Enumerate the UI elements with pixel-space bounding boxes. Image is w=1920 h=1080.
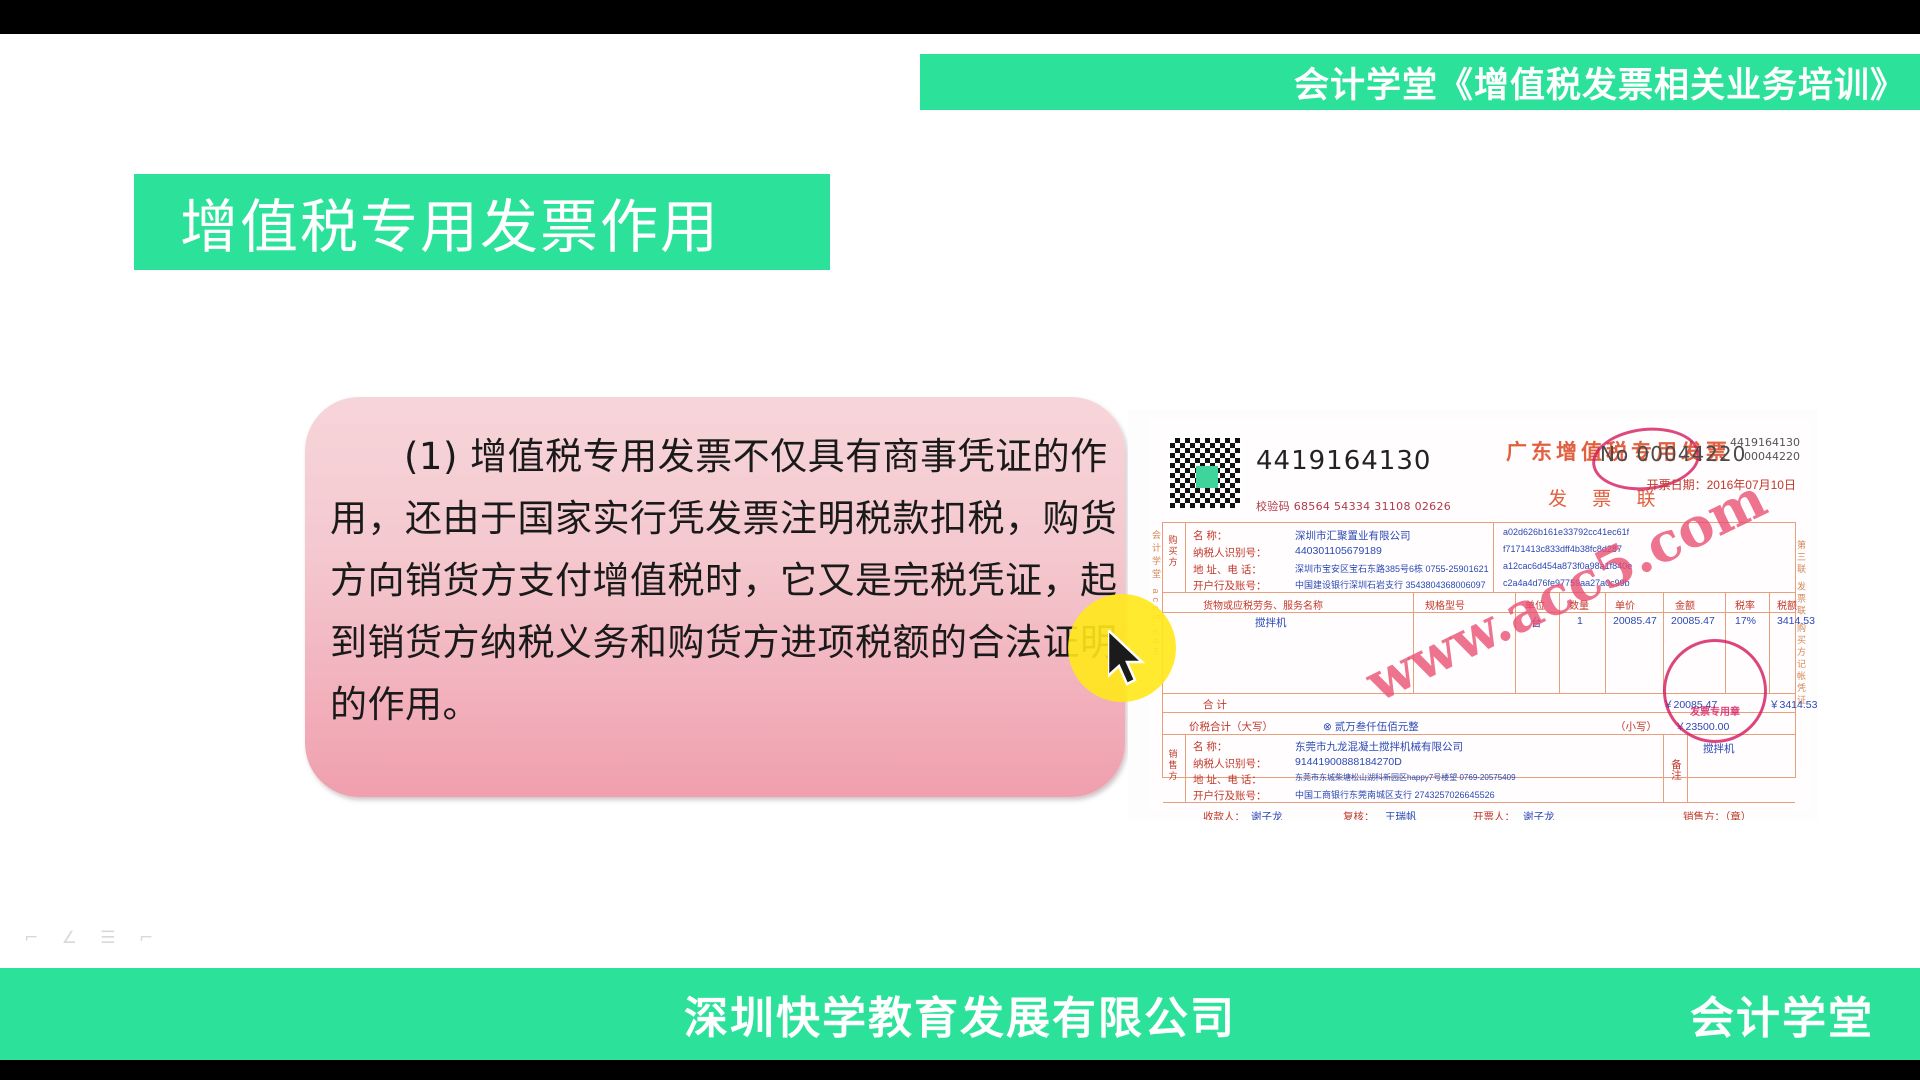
col-head-qty: 数量 [1569,597,1589,612]
item-qty: 1 [1577,615,1583,627]
col-head-rate: 税率 [1735,597,1755,612]
item-amount: 20085.47 [1671,615,1715,627]
invoice-check-code: 校验码 68564 54334 31108 02626 [1256,498,1451,514]
seller-name-label: 名 称： [1193,739,1227,754]
invoice-canvas: 4419164130 校验码 68564 54334 31108 02626 广… [1148,418,1810,812]
grid-divider [1769,593,1770,693]
grid-divider [1413,593,1414,693]
invoice-seller-tag: 销 售 方 [1166,749,1180,782]
buyer-name-label: 名 称： [1193,528,1227,543]
password-line-3: a12cac6d454a873f0a98a1f840e [1503,561,1632,571]
header-ribbon: 会计学堂《增值税发票相关业务培训》 [920,54,1920,110]
seller-addr-value: 东莞市东城柴塘松山湖科新园区happy7号楼望 0769-20575409 [1295,772,1516,783]
remark-value: 搅拌机 [1703,741,1735,756]
seller-taxid-label: 纳税人识别号： [1193,756,1267,771]
remark-label: 备注 [1669,759,1684,780]
cn-total-label: 价税合计（大写） [1189,719,1273,734]
col-head-price: 单价 [1615,597,1635,612]
slide-title-banner: 增值税专用发票作用 [134,174,830,270]
reviewer-value: 王瑞帆 [1385,809,1417,820]
corner-marks: ⌐ ∠ ☰ ⌐ [24,928,162,948]
footer-brand: 会计学堂 [1690,982,1874,1046]
buyer-taxid-label: 纳税人识别号： [1193,545,1267,560]
reviewer-label: 复核： [1343,809,1375,820]
grid-divider [1185,735,1186,803]
seller-bank-value: 中国工商银行东莞南城区支行 2743257026645526 [1295,788,1495,801]
password-line-1: a02d626b161e33792cc41ec61f [1503,527,1629,537]
total-tax: ￥3414.53 [1769,697,1817,712]
grid-divider [1687,735,1688,803]
seller-taxid-value: 91441900888184270D [1295,756,1402,768]
letterbox-bottom [0,1060,1920,1080]
grid-divider [1663,735,1664,803]
password-line-4: c2a4a4d76fe97759aa27a0c99b [1503,578,1630,588]
lower-label: （小写） [1615,719,1657,734]
payee-value: 谢子龙 [1251,809,1283,820]
drawer-value: 谢子龙 [1523,809,1555,820]
letterbox-top [0,0,1920,34]
password-line-2: f7171413c833dff4b38fc8d287 [1503,544,1622,554]
buyer-addr-label: 地 址、电 话： [1193,562,1262,577]
invoice-buyer-tag: 购 买 方 [1166,535,1180,568]
qr-code-icon [1168,436,1242,510]
grid-divider [1515,593,1516,693]
col-head-amount: 金额 [1675,597,1695,612]
presentation-slide: 会计学堂《增值税发票相关业务培训》 增值税专用发票作用 (1) 增值税专用发票不… [0,34,1920,1060]
col-head-spec: 规格型号 [1425,597,1465,612]
buyer-taxid-value: 440301105679189 [1295,545,1382,557]
invoice-number-secondary: 4419164130 00044220 [1730,436,1800,464]
buyer-addr-value: 深圳市宝安区宝石东路385号6栋 0755-25901621 [1295,562,1489,575]
seller-addr-label: 地 址、电 话： [1193,772,1262,787]
buyer-bank-label: 开户行及账号： [1193,578,1267,593]
buyer-bank-value: 中国建设银行深圳石岩支行 3543804368006097 [1295,578,1486,591]
invoice-number: No 00044220 [1600,442,1746,466]
header-title: 会计学堂《增值税发票相关业务培训》 [1294,57,1906,108]
total-label: 合 计 [1203,697,1227,712]
item-unit: 台 [1531,615,1542,630]
grid-divider [1493,523,1494,593]
col-head-name: 货物或应税劳务、服务名称 [1203,597,1323,612]
invoice-image: 4419164130 校验码 68564 54334 31108 02626 广… [1128,410,1818,820]
item-name: 搅拌机 [1255,615,1287,630]
grid-divider [1559,593,1560,693]
footer-company: 深圳快学教育发展有限公司 [0,982,1920,1046]
invoice-code: 4419164130 [1256,446,1431,476]
drawer-label: 开票人： [1473,809,1515,820]
item-price: 20085.47 [1613,615,1657,627]
footer-bar: 深圳快学教育发展有限公司 会计学堂 [0,968,1920,1060]
seal-text: 发票专用章 [1666,703,1764,718]
content-paragraph: (1) 增值税专用发票不仅具有商事凭证的作用，还由于国家实行凭发票注明税款扣税，… [330,426,1120,736]
col-head-tax: 税额 [1777,597,1797,612]
buyer-name-value: 深圳市汇聚置业有限公司 [1295,528,1411,543]
payee-label: 收款人： [1203,809,1245,820]
item-rate: 17% [1735,615,1756,627]
invoice-number-secondary-line1: 4419164130 [1730,436,1800,450]
invoice-number-secondary-line2: 00044220 [1730,450,1800,464]
seller-name-value: 东莞市九龙混凝土搅拌机械有限公司 [1295,739,1463,754]
invoice-round-seal-icon: 发票专用章 [1663,639,1767,743]
grid-divider [1185,523,1186,593]
grid-divider [1605,593,1606,693]
invoice-grid: 购 买 方 名 称： 深圳市汇聚置业有限公司 纳税人识别号： 440301105… [1162,522,1796,778]
slide-stage: 会计学堂《增值税发票相关业务培训》 增值税专用发票作用 (1) 增值税专用发票不… [0,0,1920,1080]
invoice-date: 开票日期：2016年07月10日 [1647,476,1796,493]
seller-bank-label: 开户行及账号： [1193,788,1267,803]
col-head-unit: 单位 [1525,597,1545,612]
page-title: 增值税专用发票作用 [180,180,720,264]
seller-sign-label: 销售方：（章） [1683,809,1751,820]
item-tax: 3414.53 [1777,615,1815,627]
cn-total-value: ⊗ 贰万叁仟伍佰元整 [1323,719,1419,734]
